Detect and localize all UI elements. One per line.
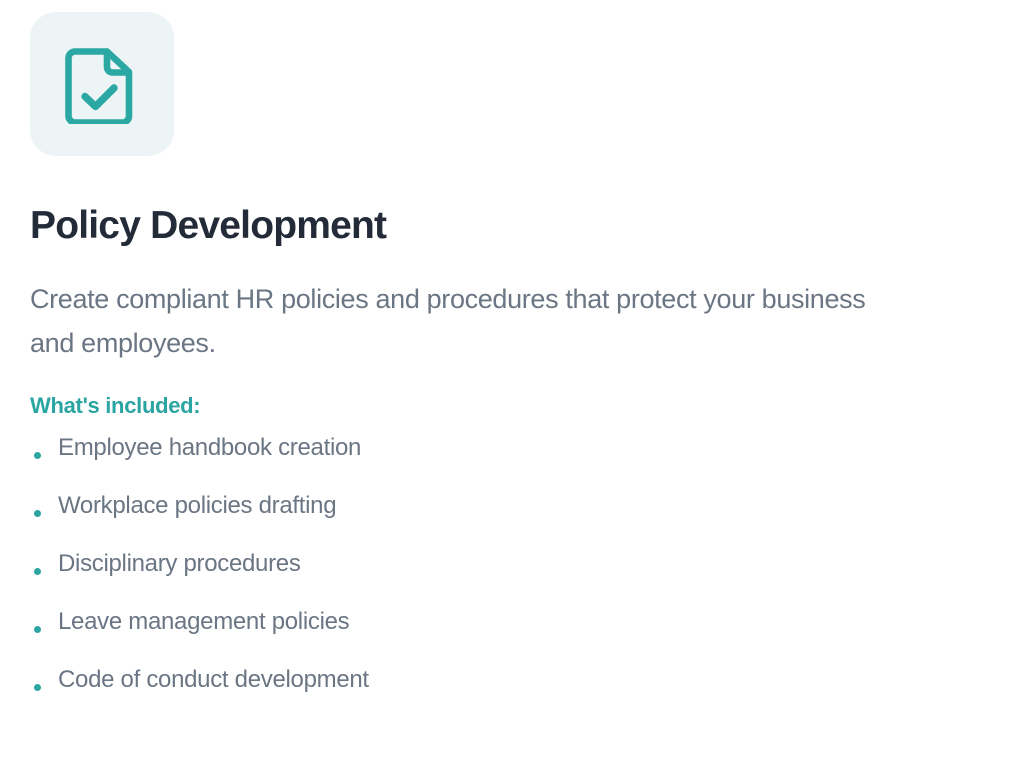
list-item-label: Leave management policies	[58, 607, 349, 637]
included-heading: What's included:	[30, 393, 994, 419]
service-card: Policy Development Create compliant HR p…	[0, 0, 1024, 768]
bullet-icon	[34, 684, 41, 691]
bullet-icon	[34, 452, 41, 459]
list-item: Employee handbook creation	[30, 433, 994, 491]
list-item-label: Workplace policies drafting	[58, 491, 336, 521]
feature-list: Employee handbook creation Workplace pol…	[30, 433, 994, 723]
bullet-icon	[34, 568, 41, 575]
list-item: Leave management policies	[30, 607, 994, 665]
bullet-icon	[34, 510, 41, 517]
list-item: Disciplinary procedures	[30, 549, 994, 607]
card-description: Create compliant HR policies and procedu…	[30, 277, 910, 365]
bullet-icon	[34, 626, 41, 633]
page-title: Policy Development	[30, 206, 994, 247]
list-item-label: Disciplinary procedures	[58, 549, 301, 579]
list-item-label: Employee handbook creation	[58, 433, 361, 463]
list-item-label: Code of conduct development	[58, 665, 369, 695]
list-item: Code of conduct development	[30, 665, 994, 723]
icon-tile	[30, 12, 174, 156]
list-item: Workplace policies drafting	[30, 491, 994, 549]
document-check-icon	[65, 44, 139, 124]
